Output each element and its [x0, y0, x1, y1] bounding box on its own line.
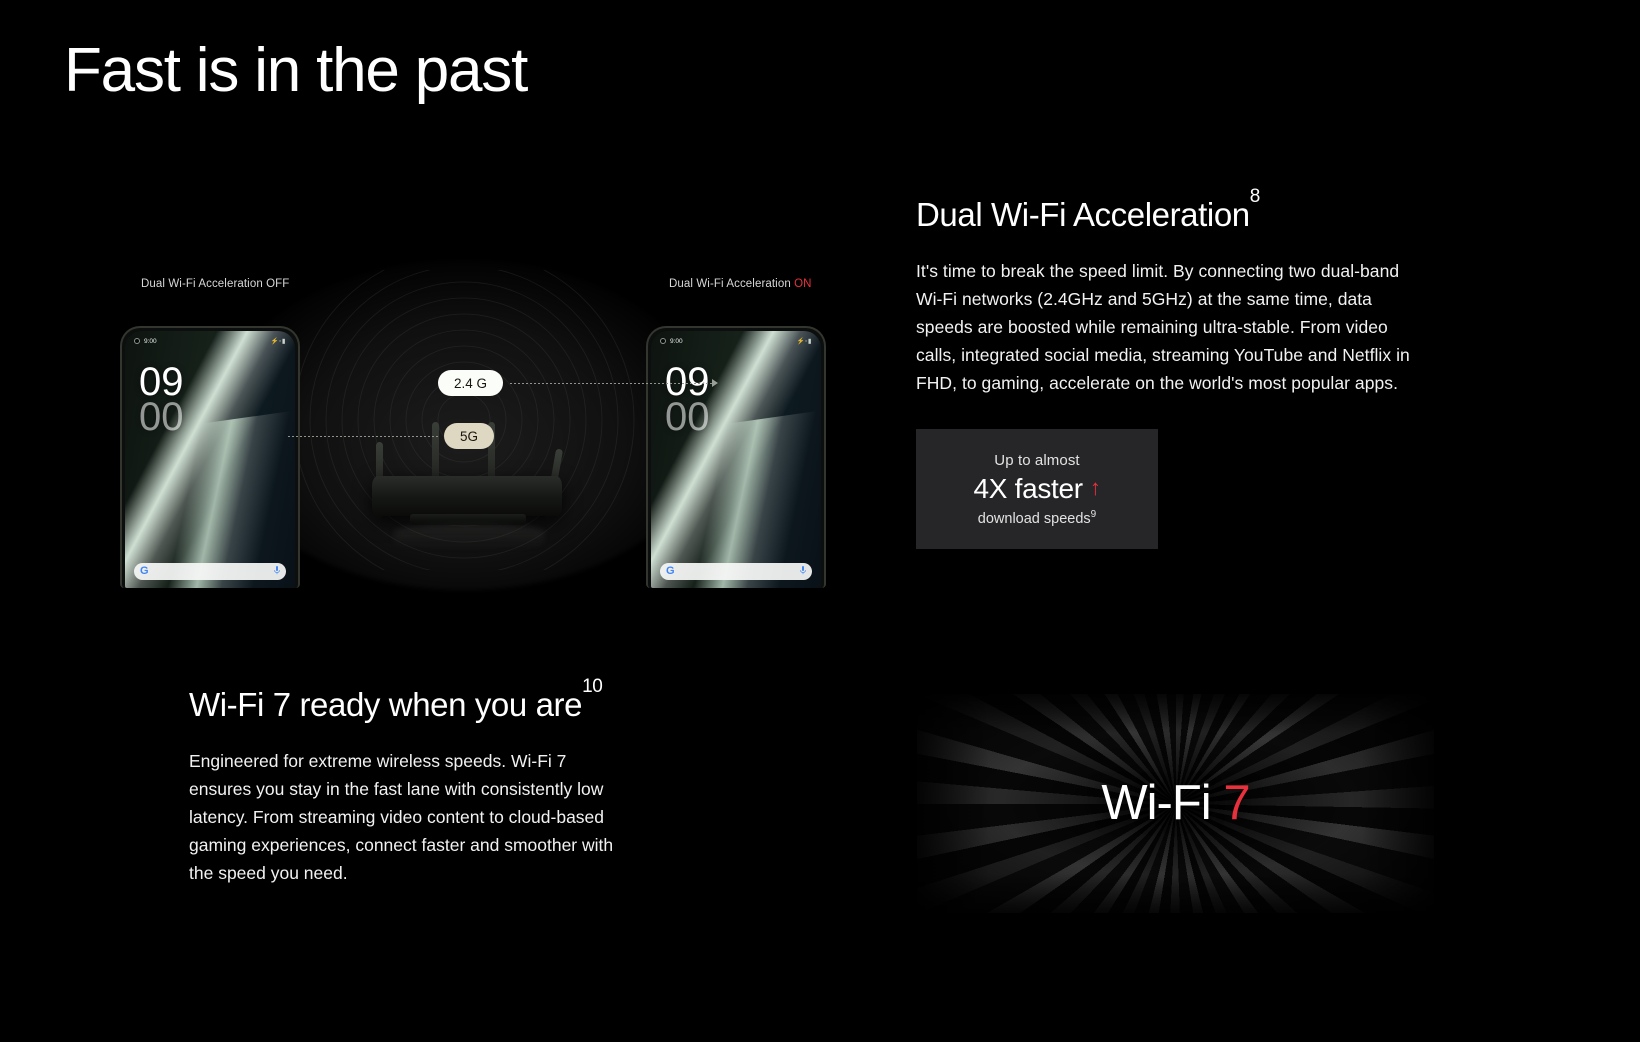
phone-mockup-on: 9:00 ⚡◦▮ 09 00 G	[646, 326, 826, 588]
arrow-up-icon: ↑	[1090, 477, 1101, 499]
connector-arrow-icon	[712, 379, 718, 387]
clock-minute: 00	[665, 400, 710, 435]
label-dual-wifi-on: Dual Wi-Fi Acceleration ON	[669, 278, 812, 290]
phone-search-bar-off[interactable]: G	[134, 563, 286, 580]
section-title-dual-wifi: Dual Wi-Fi Acceleration8	[916, 196, 1416, 235]
section-title-wifi7: Wi-Fi 7 ready when you are10	[189, 686, 659, 725]
phone-screen-on: 9:00 ⚡◦▮ 09 00 G	[651, 331, 821, 588]
phone-statusbar-off: 9:00 ⚡◦▮	[125, 337, 295, 345]
stat-card-download-speed: Up to almost 4X faster ↑ download speeds…	[916, 429, 1158, 549]
connector-line-5g	[288, 436, 440, 437]
content-grid: Dual Wi-Fi Acceleration OFF Dual Wi-Fi A…	[0, 0, 1640, 1042]
phone-status-indicators: ⚡◦▮	[797, 337, 812, 345]
stat-card-bottom-text: download speeds	[978, 510, 1091, 526]
wifi7-tunnel-image: Wi-Fi 7	[917, 694, 1434, 913]
band-badge-5g: 5G	[444, 423, 494, 449]
footnote-marker-9: 9	[1091, 509, 1097, 520]
connector-line-24g	[510, 383, 716, 384]
clock-minute: 00	[139, 400, 184, 435]
router-chassis	[372, 476, 562, 516]
phone-power-button-on	[824, 432, 826, 466]
stat-card-top-label: Up to almost	[994, 452, 1079, 469]
phone-mockup-off: 9:00 ⚡◦▮ 09 00 G	[120, 326, 300, 588]
section-body-wifi7: Engineered for extreme wireless speeds. …	[189, 747, 621, 887]
camera-punchhole-icon	[134, 338, 140, 344]
phone-lockscreen-clock-on: 09 00	[665, 365, 710, 435]
google-g-icon: G	[140, 566, 149, 577]
phone-lockscreen-clock-off: 09 00	[139, 365, 184, 435]
microphone-icon	[274, 566, 280, 577]
section-title-dual-wifi-text: Dual Wi-Fi Acceleration	[916, 196, 1250, 233]
router-reflection	[394, 524, 544, 550]
footnote-marker-8: 8	[1250, 186, 1260, 207]
phone-statusbar-left: 9:00	[660, 338, 683, 345]
section-dual-wifi-acceleration: Dual Wi-Fi Acceleration8 It's time to br…	[916, 196, 1416, 549]
footnote-marker-10: 10	[582, 676, 602, 697]
phone-status-time: 9:00	[144, 338, 157, 345]
phone-search-bar-on[interactable]: G	[660, 563, 812, 580]
section-body-dual-wifi: It's time to break the speed limit. By c…	[916, 257, 1416, 397]
label-dual-wifi-on-prefix: Dual Wi-Fi Acceleration	[669, 278, 794, 290]
wifi7-label-text: Wi-Fi	[1101, 775, 1223, 829]
phone-status-time: 9:00	[670, 338, 683, 345]
label-dual-wifi-on-state: ON	[794, 278, 811, 290]
stat-card-value: 4X faster	[973, 473, 1082, 505]
band-badge-24g: 2.4 G	[438, 370, 503, 396]
wifi7-label-number: 7	[1223, 775, 1249, 829]
phone-statusbar-on: 9:00 ⚡◦▮	[651, 337, 821, 345]
phone-screen-off: 9:00 ⚡◦▮ 09 00 G	[125, 331, 295, 588]
phone-power-button-off	[298, 432, 300, 466]
camera-punchhole-icon	[660, 338, 666, 344]
phone-status-indicators: ⚡◦▮	[271, 337, 286, 345]
google-g-icon: G	[666, 566, 675, 577]
microphone-icon	[800, 566, 806, 577]
stat-card-value-row: 4X faster ↑	[973, 473, 1100, 505]
dual-wifi-comparison-image: Dual Wi-Fi Acceleration OFF Dual Wi-Fi A…	[64, 250, 874, 595]
section-wifi7-ready: Wi-Fi 7 ready when you are10 Engineered …	[189, 686, 659, 887]
label-dual-wifi-off: Dual Wi-Fi Acceleration OFF	[141, 278, 289, 290]
wifi7-label: Wi-Fi 7	[917, 774, 1434, 830]
phone-statusbar-left: 9:00	[134, 338, 157, 345]
stat-card-bottom-label: download speeds9	[978, 509, 1096, 527]
section-title-wifi7-text: Wi-Fi 7 ready when you are	[189, 686, 582, 723]
